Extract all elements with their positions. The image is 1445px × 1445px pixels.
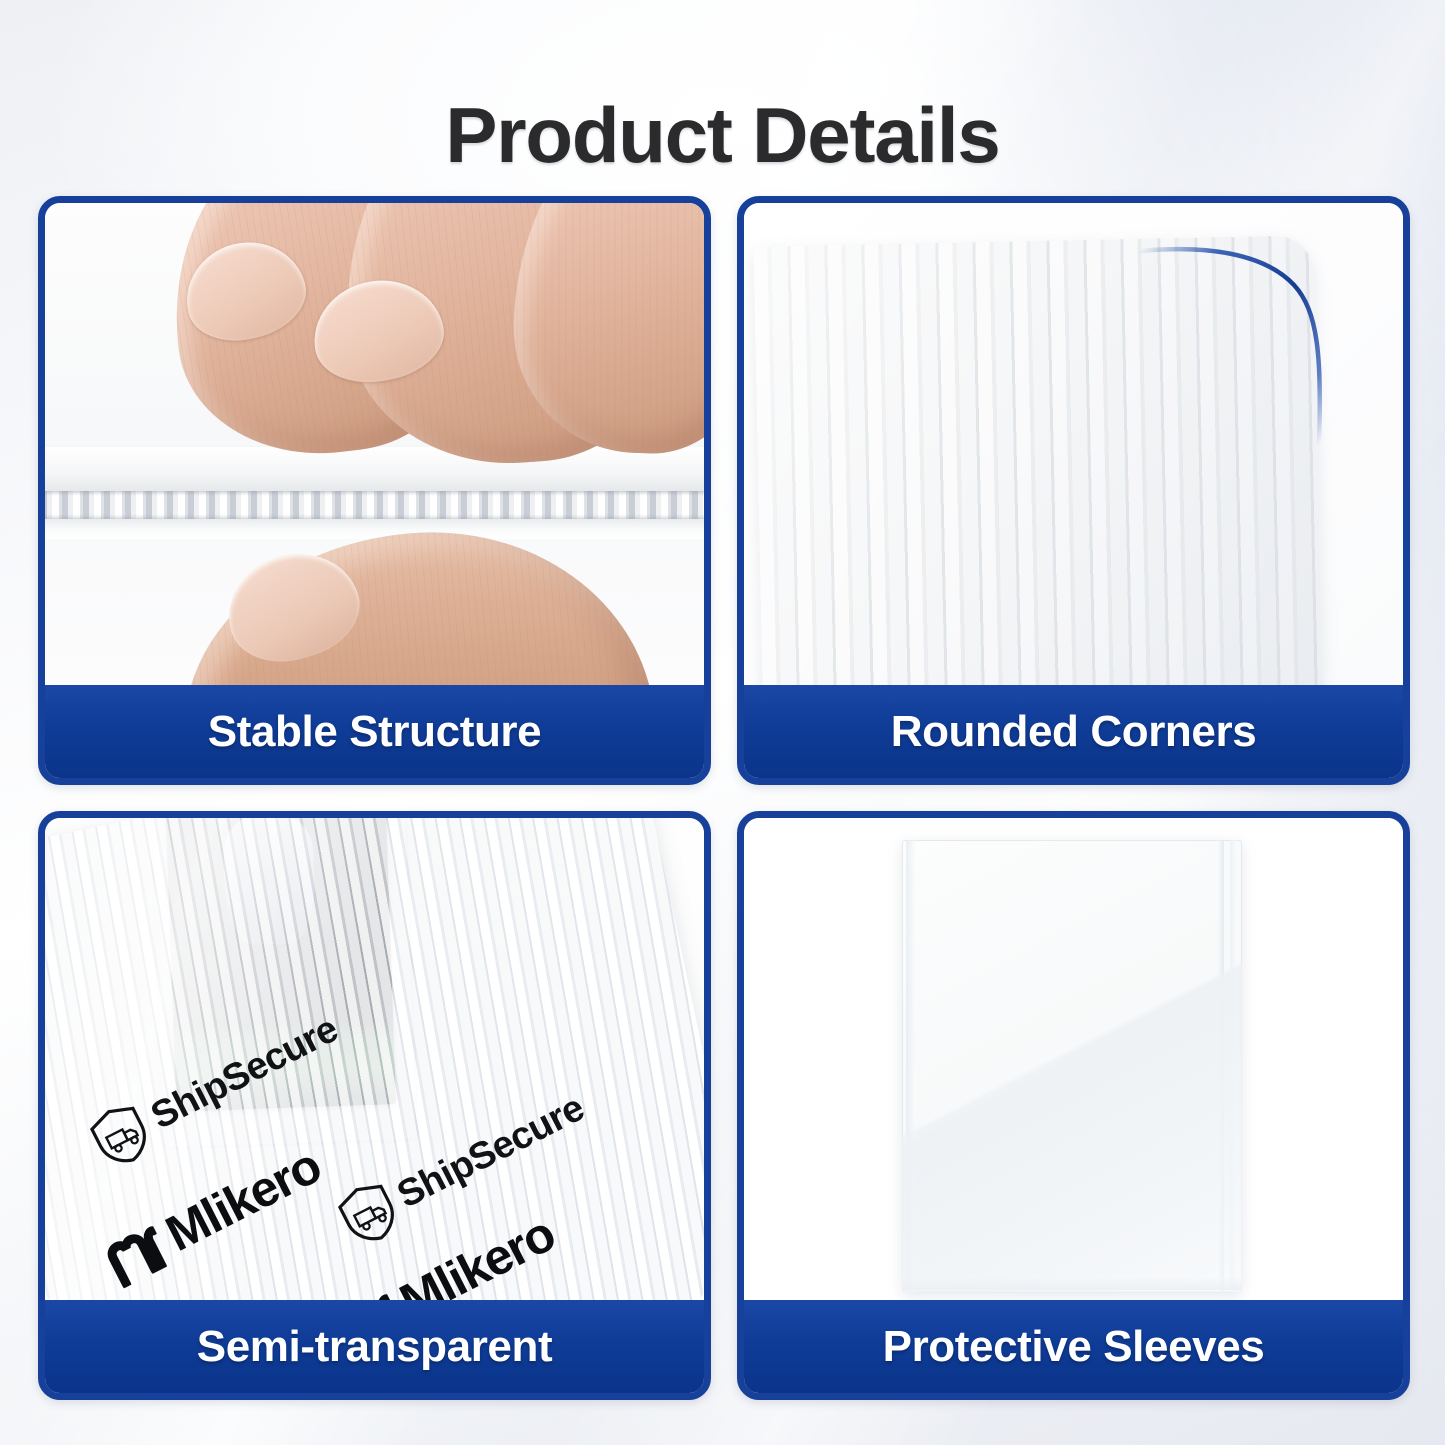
semi-transparent-corrugated-panel (45, 818, 704, 1306)
product-details-grid: Stable Structure R (38, 196, 1410, 1404)
corrugated-flute-core (45, 491, 704, 519)
card-label-semi-transparent: Semi-transparent (45, 1300, 704, 1393)
panel-gloss (45, 818, 704, 1306)
product-detail-card-protective-sleeves[interactable]: Protective Sleeves (737, 811, 1410, 1400)
product-detail-card-stable-structure[interactable]: Stable Structure (38, 196, 711, 785)
sheet-shading (753, 235, 1322, 691)
card-media-rounded-corners (744, 203, 1403, 691)
product-detail-card-semi-transparent[interactable]: ShipSecure Mlikero (38, 811, 711, 1400)
card-media-semi-transparent: ShipSecure Mlikero (45, 818, 704, 1306)
product-detail-card-rounded-corners[interactable]: Rounded Corners (737, 196, 1410, 785)
card-media-protective-sleeves (744, 818, 1403, 1306)
clear-protective-sleeve (902, 840, 1242, 1292)
card-label-rounded-corners: Rounded Corners (744, 685, 1403, 778)
card-label-stable-structure: Stable Structure (45, 685, 704, 778)
corrugated-sheet-bottom-face (45, 519, 704, 539)
sleeve-gloss-highlight (902, 840, 1242, 1292)
corrugated-sheet-top-face (45, 447, 704, 493)
card-media-stable-structure (45, 203, 704, 691)
corrugated-sheet (753, 235, 1322, 691)
card-label-protective-sleeves: Protective Sleeves (744, 1300, 1403, 1393)
page-title: Product Details (0, 96, 1445, 174)
